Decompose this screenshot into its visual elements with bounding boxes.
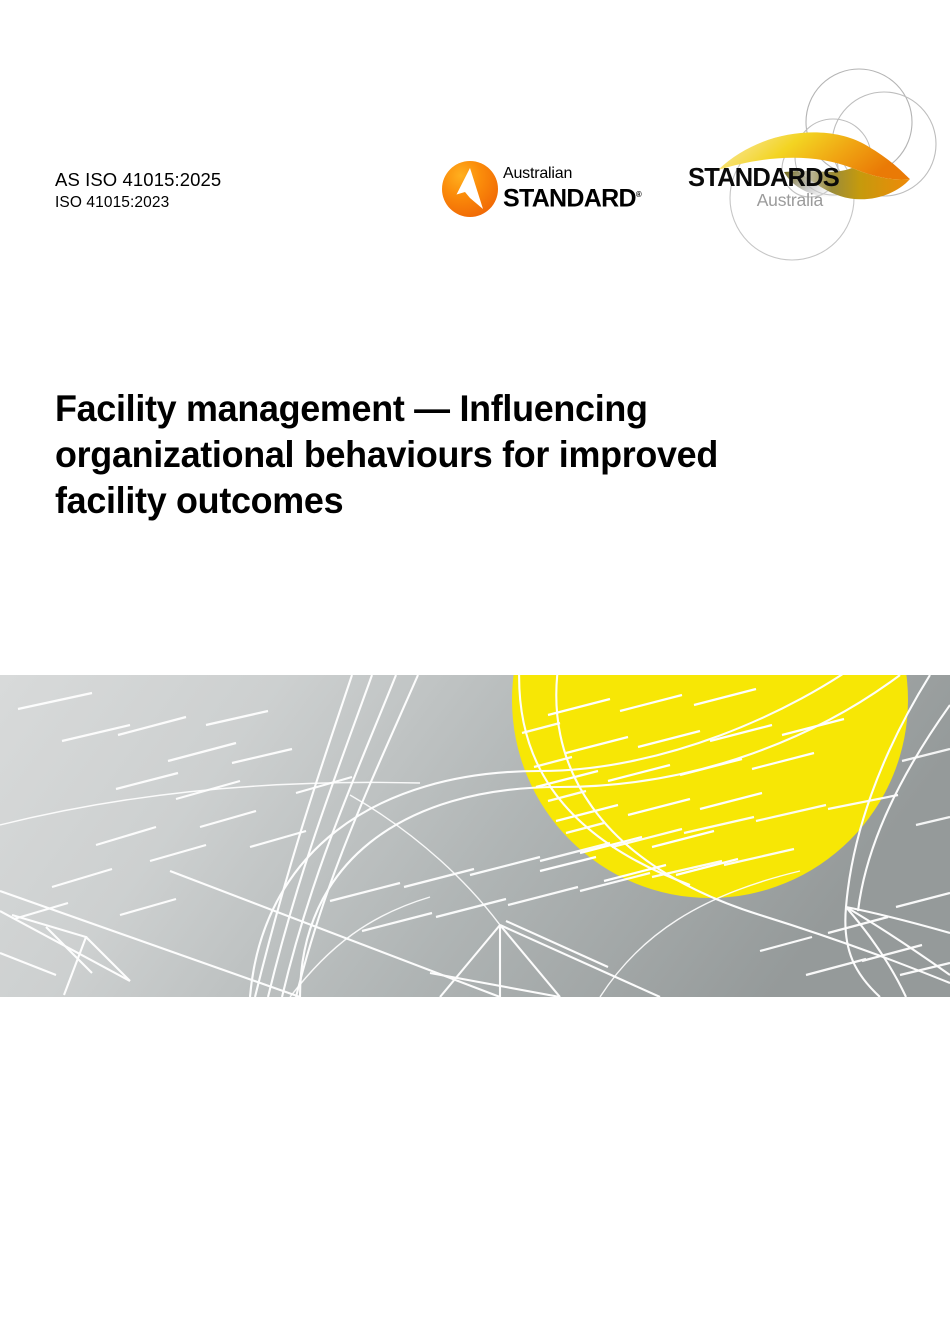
document-reference-block: AS ISO 41015:2025 ISO 41015:2023 [55, 168, 221, 213]
australian-standard-logo: Australian STANDARD® [441, 160, 631, 218]
document-reference-primary: AS ISO 41015:2025 [55, 168, 221, 192]
australian-standard-wordmark: Australian STANDARD® [503, 165, 631, 211]
document-title-block: Facility management — Influencing organi… [55, 386, 835, 524]
standards-australia-wordmark: STANDARDS Australia [688, 165, 828, 210]
australian-standard-word-bottom-text: STANDARD [503, 184, 636, 212]
standards-australia-word-top: STANDARDS [688, 165, 828, 191]
standards-australia-logo: STANDARDS Australia [688, 58, 940, 283]
australian-standard-word-bottom: STANDARD® [503, 182, 631, 211]
page-title-line-2: organizational behaviours for improved [55, 432, 812, 478]
australian-standard-word-top: Australian [503, 165, 631, 182]
australian-standard-emblem-icon [441, 160, 499, 218]
registered-trademark-icon: ® [636, 190, 642, 199]
document-reference-secondary: ISO 41015:2023 [55, 192, 221, 213]
page-title-line-1: Facility management — Influencing [55, 386, 812, 432]
page-header: AS ISO 41015:2025 ISO 41015:2023 [0, 0, 950, 290]
page-title: Facility management — Influencing organi… [55, 386, 812, 524]
page-title-line-3: facility outcomes [55, 478, 812, 524]
standards-australia-word-bottom: Australia [688, 191, 823, 210]
cover-graphic-band [0, 675, 950, 997]
